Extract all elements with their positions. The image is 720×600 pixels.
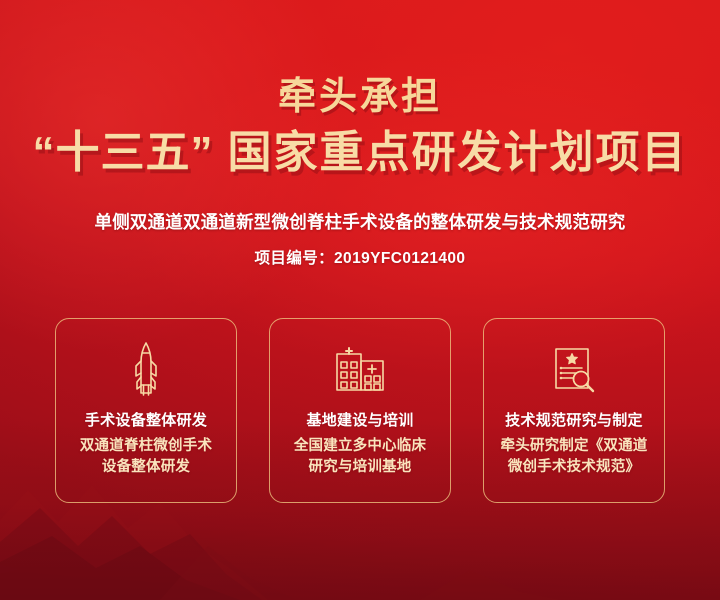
feature-card-1[interactable]: 手术设备整体研发 双通道脊柱微创手术 设备整体研发: [55, 318, 237, 503]
feature-card-3-description: 牵头研究制定《双通道 微创手术技术规范》: [493, 436, 656, 478]
headline-line-2-rest: 国家重点研发计划项目: [228, 128, 688, 177]
feature-card-2-description: 全国建立多中心临床 研究与培训基地: [286, 436, 434, 478]
headline-block: 牵头承担 “十三五”国家重点研发计划项目: [0, 74, 720, 180]
project-number: 项目编号：2019YFC0121400: [0, 248, 720, 270]
feature-card-2-desc-line-1: 全国建立多中心临床: [294, 438, 426, 454]
feature-card-1-desc-line-1: 双通道脊柱微创手术: [80, 438, 212, 454]
feature-card-1-desc-line-2: 设备整体研发: [102, 459, 190, 475]
rocket-icon: [128, 341, 164, 399]
feature-card-3-desc-line-2: 微创手术技术规范》: [508, 459, 640, 475]
feature-card-3-title: 技术规范研究与制定: [505, 411, 643, 431]
document-search-icon: [548, 341, 600, 399]
feature-card-list: 手术设备整体研发 双通道脊柱微创手术 设备整体研发: [55, 318, 665, 503]
feature-card-1-title: 手术设备整体研发: [85, 411, 207, 431]
feature-card-1-description: 双通道脊柱微创手术 设备整体研发: [72, 436, 220, 478]
feature-card-2-desc-line-2: 研究与培训基地: [309, 459, 412, 475]
poster-banner: 牵头承担 “十三五”国家重点研发计划项目 单侧双通道双通道新型微创脊柱手术设备的…: [0, 0, 720, 600]
feature-card-3-desc-line-1: 牵头研究制定《双通道: [501, 438, 648, 454]
hospital-building-icon: [331, 341, 389, 399]
feature-card-2-title: 基地建设与培训: [306, 411, 413, 431]
headline-quoted-term: “十三五”: [33, 128, 214, 177]
headline-line-1: 牵头承担: [0, 74, 720, 120]
project-subtitle: 单侧双通道双通道新型微创脊柱手术设备的整体研发与技术规范研究: [0, 209, 720, 235]
feature-card-3[interactable]: 技术规范研究与制定 牵头研究制定《双通道 微创手术技术规范》: [483, 318, 665, 503]
feature-card-2[interactable]: 基地建设与培训 全国建立多中心临床 研究与培训基地: [269, 318, 451, 503]
headline-line-2: “十三五”国家重点研发计划项目: [0, 126, 720, 180]
